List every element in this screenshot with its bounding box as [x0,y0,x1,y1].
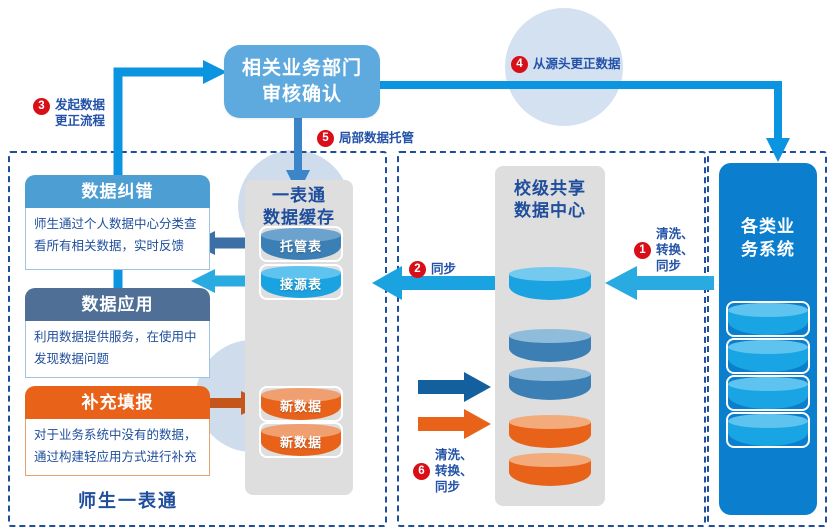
cache-column-title: 一表通 数据缓存 [245,185,353,229]
step-badge-5: 5 [317,130,334,147]
business-systems-cylinder-1[interactable] [728,303,808,335]
card-supplementary-report-body: 对于业务系统中没有的数据， 通过构建轻应用方式进行补充 [25,419,210,476]
step-note-5: 局部数据托管 [339,130,414,146]
shared-center-title: 校级共享 数据中心 [495,178,605,222]
business-systems-cylinder-3[interactable] [728,377,808,409]
step-note-1-line3: 同步 [656,258,681,274]
business-systems-title: 各类业 务系统 [719,216,817,262]
cylinder-top [509,415,591,429]
cylinder-top [509,367,591,381]
shared-center-cylinder-3[interactable] [509,367,591,400]
cylinder-tuoguan-table-label: 托管表 [261,236,341,255]
business-systems-cylinder-4[interactable] [728,414,808,446]
card-data-application-body: 利用数据提供服务，在使用中 发现数据问题 [25,321,210,378]
business-systems-title-line2: 务系统 [719,239,817,262]
approval-box-line2: 审核确认 [262,82,342,107]
business-systems-title-line1: 各类业 [719,216,817,239]
cylinder-new-data-2[interactable]: 新数据 [261,424,341,456]
step-badge-4: 4 [511,56,528,73]
cache-column-title-line2: 数据缓存 [245,207,353,229]
card-data-application[interactable]: 数据应用 利用数据提供服务，在使用中 发现数据问题 [25,288,210,378]
shared-center-title-line1: 校级共享 [495,178,605,200]
step-badge-1: 1 [634,242,651,259]
cylinder-top [728,303,808,317]
card-data-correction-body-line2: 看所有相关数据，实时反馈 [34,236,201,258]
step-note-6-line1: 清洗、 [435,447,473,463]
card-data-application-body-line1: 利用数据提供服务，在使用中 [34,327,201,349]
step-note-4: 从源头更正数据 [533,56,621,72]
step-note-3-line1: 发起数据 [55,97,105,113]
panel-label-yibiaotong: 师生一表通 [78,487,178,513]
step-badge-2: 2 [409,261,426,278]
cylinder-top [509,453,591,467]
shared-center-cylinder-2[interactable] [509,329,591,362]
step-note-1-line2: 转换、 [656,242,694,258]
step-note-6-line2: 转换、 [435,463,473,479]
cylinder-new-data-2-label: 新数据 [261,432,341,451]
shared-center-title-line2: 数据中心 [495,200,605,222]
approval-box-line1: 相关业务部门 [242,56,362,81]
card-supplementary-report[interactable]: 补充填报 对于业务系统中没有的数据， 通过构建轻应用方式进行补充 [25,386,210,476]
card-supplementary-report-title: 补充填报 [25,386,210,419]
cylinder-new-data-1[interactable]: 新数据 [261,388,341,420]
step-badge-3: 3 [33,98,50,115]
cylinder-top [728,340,808,354]
cylinder-tuoguan-table[interactable]: 托管表 [261,228,341,260]
card-data-application-title: 数据应用 [25,288,210,321]
shared-center-cylinder-4[interactable] [509,415,591,448]
cylinder-new-data-1-label: 新数据 [261,396,341,415]
cylinder-top [728,377,808,391]
cylinder-top [728,414,808,428]
step-badge-6: 6 [413,463,430,480]
card-data-correction-title: 数据纠错 [25,175,210,208]
business-systems-cylinder-2[interactable] [728,340,808,372]
cylinder-source-table-label: 接源表 [261,274,341,293]
approval-box[interactable]: 相关业务部门 审核确认 [224,45,380,118]
diagram-canvas: 相关业务部门 审核确认 3 发起数据 更正流程 4 从源头更正数据 5 局部数据… [0,0,830,530]
card-supplementary-report-body-line2: 通过构建轻应用方式进行补充 [34,447,201,469]
shared-center-cylinder-1[interactable] [509,267,591,300]
card-supplementary-report-body-line1: 对于业务系统中没有的数据， [34,425,201,447]
card-data-correction-body: 师生通过个人数据中心分类查 看所有相关数据，实时反馈 [25,208,210,270]
step-note-2: 同步 [431,261,456,277]
step-note-3-line2: 更正流程 [55,113,105,129]
card-data-application-body-line2: 发现数据问题 [34,349,201,371]
cylinder-top [509,267,591,281]
cylinder-top [509,329,591,343]
shared-center-cylinder-5[interactable] [509,453,591,486]
card-data-correction[interactable]: 数据纠错 师生通过个人数据中心分类查 看所有相关数据，实时反馈 [25,175,210,270]
step-note-6-line3: 同步 [435,479,460,495]
card-data-correction-body-line1: 师生通过个人数据中心分类查 [34,214,201,236]
cylinder-source-table[interactable]: 接源表 [261,266,341,298]
step-note-1-line1: 清洗、 [656,226,694,242]
cache-column-title-line1: 一表通 [245,185,353,207]
